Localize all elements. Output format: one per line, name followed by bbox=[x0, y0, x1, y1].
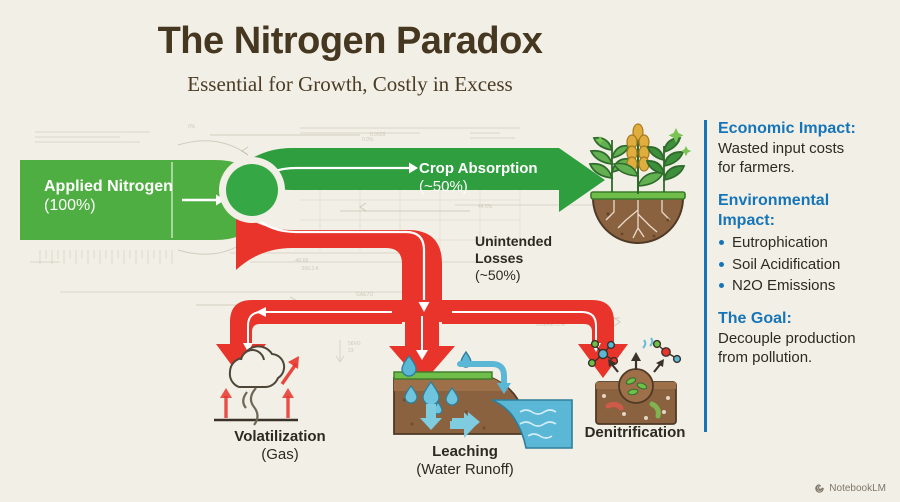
volatilization-detail: (Gas) bbox=[180, 446, 380, 464]
environmental-impact-heading-1: Environmental bbox=[718, 192, 886, 210]
goal-heading: The Goal: bbox=[718, 310, 886, 328]
crop-absorption-label: Crop Absorption (~50%) bbox=[419, 160, 538, 196]
list-item: Eutrophication bbox=[718, 232, 886, 253]
page-subtitle: Essential for Growth, Costly in Excess bbox=[0, 72, 700, 97]
economic-impact-body-1: Wasted input costs bbox=[718, 140, 886, 159]
economic-impact-heading: Economic Impact: bbox=[718, 120, 886, 138]
applied-nitrogen-label: Applied Nitrogen (100%) bbox=[44, 178, 173, 216]
goal-body-2: from pollution. bbox=[718, 349, 886, 368]
unintended-losses-name-2: Losses bbox=[475, 250, 552, 267]
sidebar-section-economic: Economic Impact: Wasted input costs for … bbox=[718, 120, 886, 178]
economic-impact-body-2: for farmers. bbox=[718, 159, 886, 178]
page-title: The Nitrogen Paradox bbox=[0, 20, 700, 63]
sidebar-section-goal: The Goal: Decouple production from pollu… bbox=[718, 310, 886, 368]
goal-body-1: Decouple production bbox=[718, 330, 886, 349]
notebooklm-spiral-icon bbox=[814, 483, 825, 494]
denitrification-name: Denitrification bbox=[545, 424, 725, 442]
leaching-name: Leaching bbox=[355, 443, 575, 461]
applied-nitrogen-name: Applied Nitrogen bbox=[44, 178, 173, 197]
volatilization-name: Volatilization bbox=[180, 428, 380, 446]
unintended-losses-value: (~50%) bbox=[475, 267, 552, 284]
unintended-losses-name-1: Unintended bbox=[475, 233, 552, 250]
infographic-canvas: 0.0029 -306.3 A GAE7O 0HMRETC A -40.68 =… bbox=[0, 0, 900, 502]
volatilization-label: Volatilization (Gas) bbox=[180, 428, 380, 464]
list-item: N2O Emissions bbox=[718, 275, 886, 296]
crop-absorption-name: Crop Absorption bbox=[419, 160, 538, 178]
list-item: Soil Acidification bbox=[718, 254, 886, 275]
sidebar-spacer-2 bbox=[718, 296, 886, 310]
denitrification-illustration bbox=[589, 338, 681, 424]
environmental-impact-list: Eutrophication Soil Acidification N2O Em… bbox=[718, 232, 886, 296]
leaching-label: Leaching (Water Runoff) bbox=[355, 443, 575, 479]
unintended-losses-label: Unintended Losses (~50%) bbox=[475, 233, 552, 284]
leaching-detail: (Water Runoff) bbox=[355, 461, 575, 479]
denitrification-label: Denitrification bbox=[545, 424, 725, 442]
watermark-label: NotebookLM bbox=[829, 483, 886, 494]
crop-absorption-value: (~50%) bbox=[419, 178, 538, 196]
sidebar-section-environmental: Environmental Impact: Eutrophication Soi… bbox=[718, 192, 886, 296]
environmental-impact-heading-2: Impact: bbox=[718, 212, 886, 230]
sidebar-spacer-1 bbox=[718, 178, 886, 192]
crop-plants-illustration bbox=[590, 124, 691, 243]
flow-split-hub bbox=[219, 157, 285, 223]
impact-sidebar: Economic Impact: Wasted input costs for … bbox=[704, 120, 886, 432]
watermark: NotebookLM bbox=[814, 483, 886, 494]
applied-nitrogen-value: (100%) bbox=[44, 197, 173, 216]
